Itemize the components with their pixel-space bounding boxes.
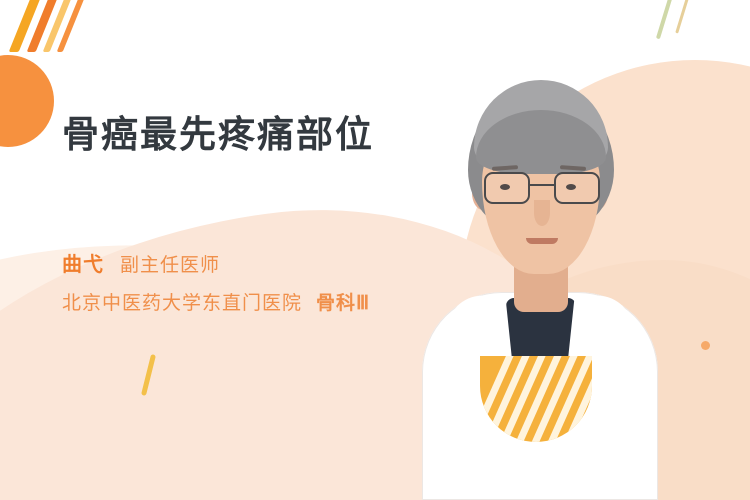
affiliation-info: 北京中医药大学东直门医院 骨科Ⅲ: [62, 288, 370, 315]
orange-circle-decor: [0, 55, 54, 147]
doctor-portrait: [422, 80, 658, 500]
medical-video-cover-card: 骨癌最先疼痛部位 曲弋 副主任医师 北京中医药大学东直门医院 骨科Ⅲ: [0, 0, 750, 500]
thin-line-decor: [656, 0, 676, 39]
diagonal-stripes-decor: [9, 0, 122, 52]
orange-dot-small-decor: [701, 341, 710, 350]
page-title: 骨癌最先疼痛部位: [62, 112, 374, 158]
thin-line-secondary-decor: [675, 0, 690, 34]
yellow-stripes-decor: [480, 356, 592, 442]
doctor-info: 曲弋 副主任医师: [62, 248, 220, 277]
nose: [534, 200, 550, 226]
department-name: 骨科Ⅲ: [316, 288, 370, 315]
mouth: [526, 238, 558, 244]
hospital-name: 北京中医药大学东直门医院: [62, 288, 302, 315]
doctor-name: 曲弋: [62, 248, 104, 277]
doctor-rank: 副主任医师: [120, 250, 220, 277]
